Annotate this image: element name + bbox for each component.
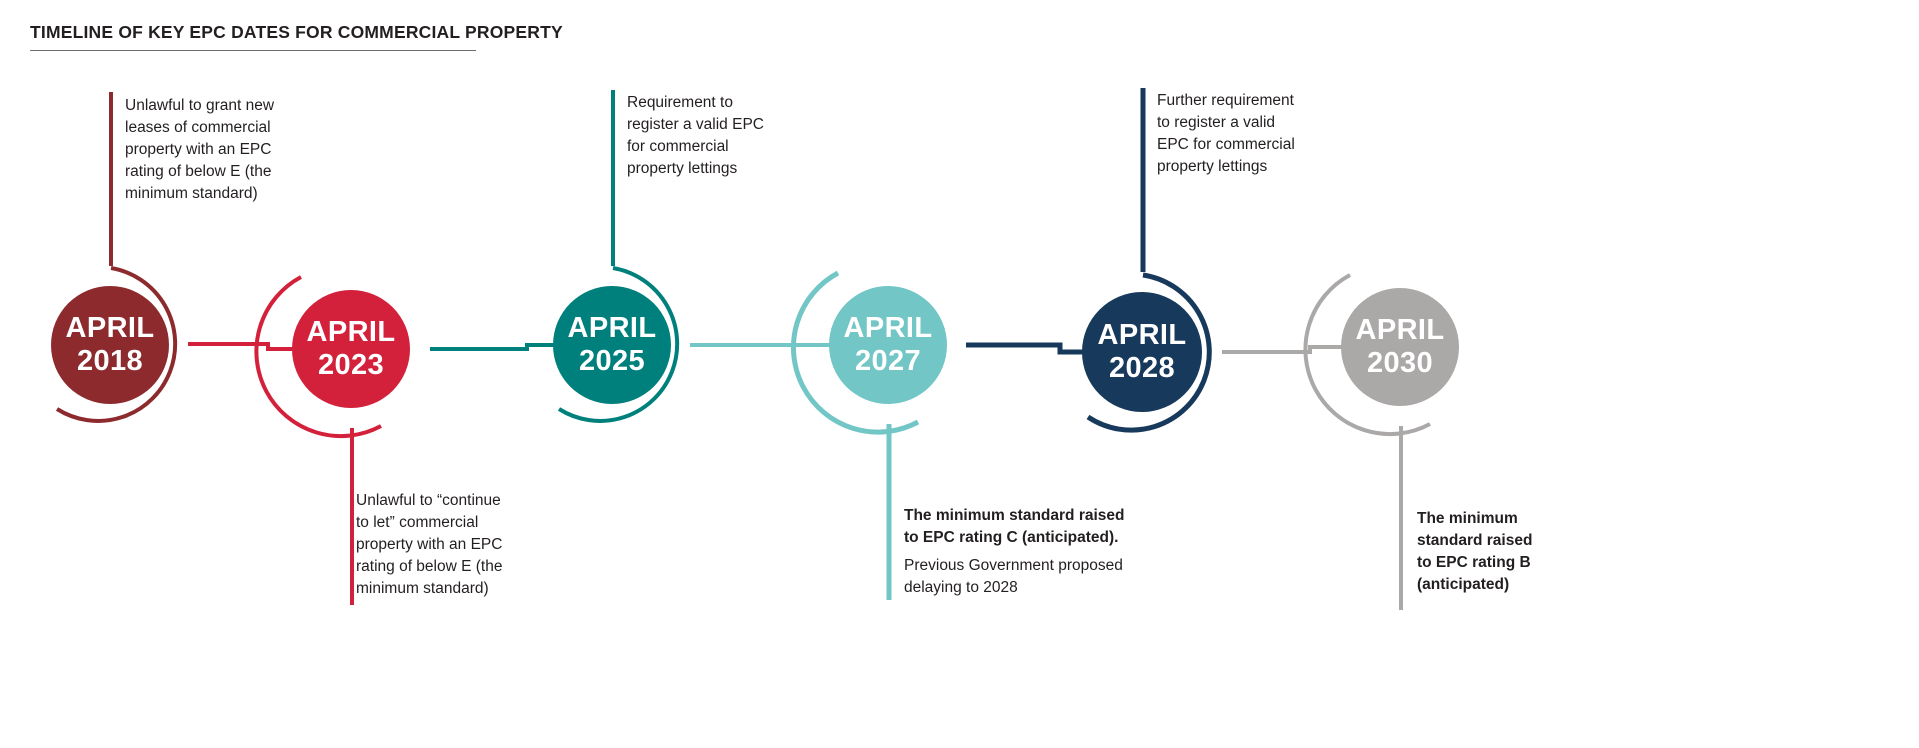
disc-2030[interactable]	[1341, 288, 1459, 406]
node-month-2028: APRIL	[1098, 319, 1187, 352]
node-year-2027: 2027	[844, 345, 933, 378]
callout-2023-line1: Unlawful to “continue	[356, 490, 541, 512]
node-year-2018: 2018	[66, 345, 155, 378]
outer-ring-2030	[1305, 275, 1430, 434]
node-label-april-2025: APRIL 2025	[568, 312, 657, 378]
node-label-april-2028: APRIL 2028	[1098, 319, 1187, 385]
callout-2028-line4: property lettings	[1157, 156, 1342, 178]
callout-2028-line3: EPC for commercial	[1157, 134, 1342, 156]
callout-2018-line1: Unlawful to grant new	[125, 95, 300, 117]
callout-april-2030: The minimum standard raised to EPC ratin…	[1417, 508, 1537, 602]
callout-2025-line2: register a valid EPC	[627, 114, 807, 136]
callout-april-2027: The minimum standard raised to EPC ratin…	[904, 505, 1134, 599]
callout-april-2028: Further requirement to register a valid …	[1157, 90, 1342, 178]
connector-lines	[188, 344, 1402, 352]
timeline-infographic: TIMELINE OF KEY EPC DATES FOR COMMERCIAL…	[0, 0, 1919, 748]
callout-2028-line2: to register a valid	[1157, 112, 1342, 134]
node-month-2027: APRIL	[844, 312, 933, 345]
callout-2025-line3: for commercial	[627, 136, 807, 158]
connector-2028-2030	[1222, 347, 1402, 352]
node-month-2018: APRIL	[66, 312, 155, 345]
callout-2027-body: Previous Government proposed delaying to…	[904, 555, 1134, 599]
connector-2023-2025	[430, 345, 613, 349]
disc-2025[interactable]	[553, 286, 671, 404]
outer-ring-2028	[1088, 275, 1209, 430]
node-month-2025: APRIL	[568, 312, 657, 345]
callout-2023-line3: property with an EPC	[356, 534, 541, 556]
callout-2023-line4: rating of below E (the	[356, 556, 541, 578]
node-year-2023: 2023	[307, 349, 396, 382]
disc-2028[interactable]	[1082, 292, 1202, 412]
callout-2025-line1: Requirement to	[627, 92, 807, 114]
node-year-2025: 2025	[568, 345, 657, 378]
callout-2023-line2: to let” commercial	[356, 512, 541, 534]
node-label-april-2027: APRIL 2027	[844, 312, 933, 378]
connector-2027-2028	[966, 345, 1145, 352]
callout-april-2025: Requirement to register a valid EPC for …	[627, 92, 807, 180]
node-month-2030: APRIL	[1356, 314, 1445, 347]
node-label-april-2030: APRIL 2030	[1356, 314, 1445, 380]
callout-2023-line5: minimum standard)	[356, 578, 541, 600]
node-month-2023: APRIL	[307, 316, 396, 349]
outer-ring-2023	[256, 277, 381, 436]
disc-2023[interactable]	[292, 290, 410, 408]
outer-ring-2027	[793, 273, 918, 432]
disc-2027[interactable]	[829, 286, 947, 404]
title-text: TIMELINE OF KEY EPC DATES FOR COMMERCIAL…	[30, 22, 590, 43]
callout-2018-line4: rating of below E (the	[125, 161, 300, 183]
callout-2018-line5: minimum standard)	[125, 183, 300, 205]
node-year-2030: 2030	[1356, 347, 1445, 380]
callout-april-2023: Unlawful to “continue to let” commercial…	[356, 490, 541, 600]
node-label-april-2023: APRIL 2023	[307, 316, 396, 382]
callout-april-2018: Unlawful to grant new leases of commerci…	[125, 95, 300, 205]
page-title: TIMELINE OF KEY EPC DATES FOR COMMERCIAL…	[30, 22, 590, 51]
node-year-2028: 2028	[1098, 352, 1187, 385]
callout-2018-line2: leases of commercial	[125, 117, 300, 139]
node-label-april-2018: APRIL 2018	[66, 312, 155, 378]
callout-2028-line1: Further requirement	[1157, 90, 1342, 112]
callout-2025-line4: property lettings	[627, 158, 807, 180]
outer-ring-2018	[57, 268, 175, 421]
title-underline	[30, 50, 476, 51]
callout-2018-line3: property with an EPC	[125, 139, 300, 161]
outer-ring-2025	[559, 268, 677, 421]
callout-2030-lead: The minimum standard raised to EPC ratin…	[1417, 508, 1537, 596]
disc-2018[interactable]	[51, 286, 169, 404]
callout-2027-lead: The minimum standard raised to EPC ratin…	[904, 505, 1134, 549]
connector-2018-2023	[188, 344, 352, 349]
